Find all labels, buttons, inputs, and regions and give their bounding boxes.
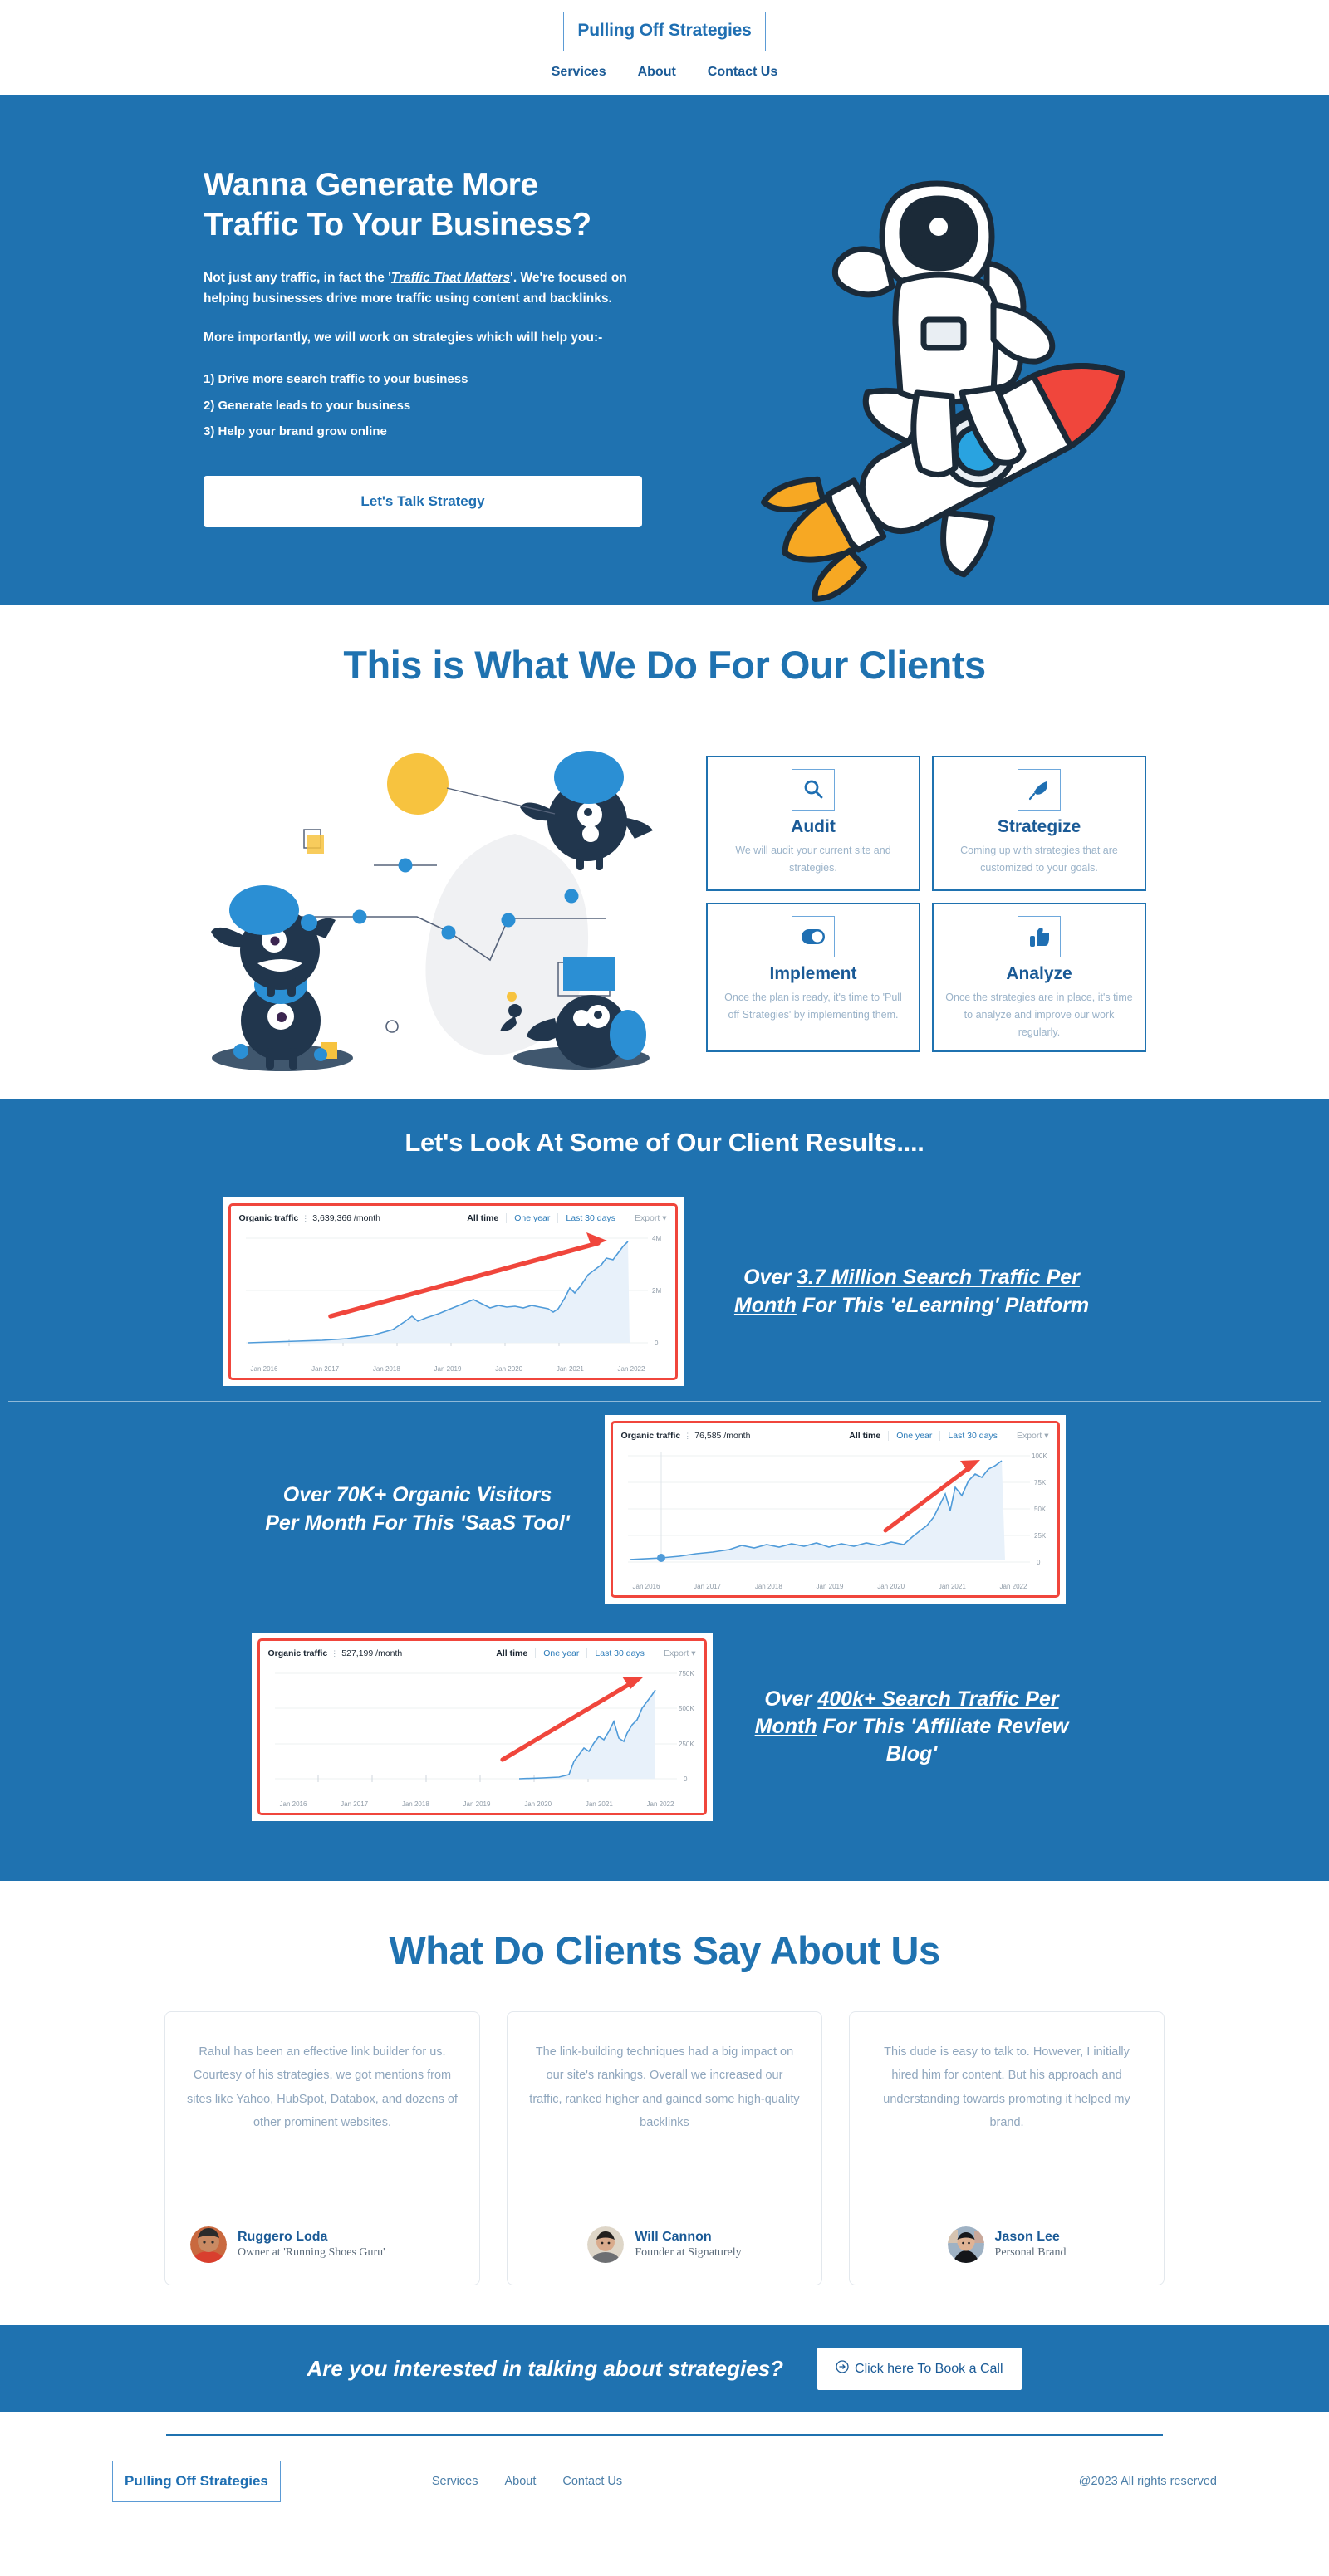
x-tick: Jan 2016 [633,1583,660,1590]
chart-tab-one-year[interactable]: One year [535,1648,586,1658]
testimonial-quote: The link-building techniques had a big i… [529,2040,800,2134]
client-results-section: Let's Look At Some of Our Client Results… [0,1099,1329,1881]
service-card-title: Audit [718,817,909,837]
svg-text:0: 0 [1037,1559,1041,1566]
chart-tab-last-30-days[interactable]: Last 30 days [557,1213,623,1223]
result-divider [8,1619,1321,1619]
chart-tab-all-time[interactable]: All time [459,1213,506,1223]
testimonial-quote: This dude is easy to talk to. However, I… [871,2040,1142,2134]
chart-metric-label: Organic traffic [268,1648,328,1658]
chart-metric-value: 3,639,366 /month [312,1213,380,1223]
service-card-desc: We will audit your current site and stra… [718,842,909,876]
result-caption-3: Over 400k+ Search Traffic Per Month For … [746,1686,1078,1769]
chart-tab-last-30-days[interactable]: Last 30 days [586,1648,652,1658]
hero-section: Wanna Generate More Traffic To Your Busi… [0,95,1329,605]
svg-text:250K: 250K [679,1741,694,1748]
footer-logo[interactable]: Pulling Off Strategies [112,2461,281,2502]
info-icon: ⋮ [331,1649,338,1658]
chart-metric-value: 76,585 /month [694,1431,750,1441]
service-card-title: Strategize [944,817,1135,837]
chart-range-tabs: All time One year Last 30 days [841,1431,1005,1441]
info-icon: ⋮ [684,1432,691,1441]
result-caption-2: Over 70K+ Organic Visitors Per Month For… [264,1481,571,1537]
svg-text:50K: 50K [1034,1506,1047,1513]
x-tick: Jan 2019 [817,1583,844,1590]
hero-title-line-2: Traffic To Your Business? [204,205,652,245]
svg-text:25K: 25K [1034,1532,1047,1540]
svg-text:100K: 100K [1032,1452,1047,1460]
service-card-audit[interactable]: Audit We will audit your current site an… [706,756,920,891]
ahrefs-chart-card-3: Organic traffic ⋮ 527,199 /month All tim… [252,1633,713,1821]
testimonial-card-3: This dude is easy to talk to. However, I… [849,2011,1165,2285]
chart-metric-label: Organic traffic [239,1213,299,1223]
hero-para-before: Not just any traffic, in fact the ' [204,271,391,285]
chart-export-button[interactable]: Export ▾ [1017,1431,1049,1441]
site-footer: Pulling Off Strategies Services About Co… [0,2412,1329,2535]
result-caption-1: Over 3.7 Million Search Traffic Per Mont… [717,1264,1107,1320]
testimonial-name: Ruggero Loda [238,2229,385,2246]
client-results-title: Let's Look At Some of Our Client Results… [0,1128,1329,1158]
x-tick: Jan 2018 [755,1583,782,1590]
primary-nav: Services About Contact Us [0,65,1329,80]
hero-benefits-list: 1) Drive more search traffic to your bus… [204,373,652,439]
service-card-desc: Once the strategies are in place, it's t… [944,989,1135,1041]
testimonial-author: Jason Lee Personal Brand [871,2226,1142,2263]
result-row-1: Organic traffic ⋮ 3,639,366 /month All t… [0,1186,1329,1399]
book-a-call-button[interactable]: Click here To Book a Call [817,2347,1022,2391]
footer-link-about[interactable]: About [504,2475,536,2488]
footer-link-contact-us[interactable]: Contact Us [562,2475,622,2488]
hero-para-emphasis: Traffic That Matters [391,271,510,285]
service-card-title: Implement [718,964,909,984]
site-logo[interactable]: Pulling Off Strategies [563,12,765,51]
site-header: Pulling Off Strategies Services About Co… [0,0,1329,95]
svg-text:0: 0 [655,1339,659,1347]
svg-text:750K: 750K [679,1670,694,1677]
hero-benefit-3: 3) Help your brand grow online [204,425,652,439]
x-tick: Jan 2019 [434,1365,462,1373]
astronaut-rocket-illustration [723,157,1188,605]
service-card-implement[interactable]: Implement Once the plan is ready, it's t… [706,903,920,1052]
monsters-growth-illustration [183,726,689,1075]
testimonial-card-1: Rahul has been an effective link builder… [164,2011,480,2285]
testimonial-author: Will Cannon Founder at Signaturely [529,2226,800,2263]
testimonial-role: Founder at Signaturely [635,2245,741,2260]
svg-text:2M: 2M [652,1287,661,1295]
service-card-desc: Once the plan is ready, it's time to 'Pu… [718,989,909,1023]
services-section-title: This is What We Do For Our Clients [0,642,1329,688]
x-tick: Jan 2016 [280,1800,307,1808]
x-tick: Jan 2018 [402,1800,429,1808]
x-tick: Jan 2022 [647,1800,674,1808]
service-card-desc: Coming up with strategies that are custo… [944,842,1135,876]
avatar [948,2226,984,2263]
bottom-cta-question: Are you interested in talking about stra… [307,2356,783,2382]
testimonials-title: What Do Clients Say About Us [0,1927,1329,1973]
svg-text:0: 0 [684,1775,688,1783]
services-section: This is What We Do For Our Clients [0,605,1329,1099]
book-a-call-label: Click here To Book a Call [855,2362,1003,2377]
nav-item-about[interactable]: About [638,65,676,80]
services-card-grid: Audit We will audit your current site an… [706,756,1146,1052]
magnifier-search-icon [792,769,835,811]
chart-metric-label: Organic traffic [621,1431,681,1441]
svg-text:75K: 75K [1034,1479,1047,1486]
ahrefs-chart-card-1: Organic traffic ⋮ 3,639,366 /month All t… [223,1197,684,1386]
hero-benefit-2: 2) Generate leads to your business [204,399,652,414]
ahrefs-chart-card-2: Organic traffic ⋮ 76,585 /month All time… [605,1415,1066,1604]
avatar [190,2226,227,2263]
chart-export-button[interactable]: Export ▾ [664,1648,696,1658]
svg-text:500K: 500K [679,1705,694,1712]
chart-tab-last-30-days[interactable]: Last 30 days [939,1431,1005,1441]
chart-plot-1: 4M 2M 0 Jan 2016 Jan 2017 Jan 2018 [239,1227,667,1373]
feather-quill-icon [1018,769,1061,811]
testimonial-author: Ruggero Loda Owner at 'Running Shoes Gur… [187,2226,458,2263]
x-tick: Jan 2022 [618,1365,645,1373]
svg-text:4M: 4M [652,1235,661,1242]
chevron-down-icon: ▾ [691,1648,695,1658]
landing-page: Pulling Off Strategies Services About Co… [0,0,1329,2535]
x-tick: Jan 2020 [495,1365,522,1373]
chart-range-tabs: All time One year Last 30 days [459,1213,623,1223]
testimonials-section: What Do Clients Say About Us Rahul has b… [0,1881,1329,2325]
testimonial-role: Personal Brand [995,2245,1067,2260]
x-tick: Jan 2019 [463,1800,491,1808]
nav-item-services[interactable]: Services [552,65,606,80]
x-tick: Jan 2017 [311,1365,339,1373]
service-card-analyze[interactable]: Analyze Once the strategies are in place… [932,903,1146,1052]
hero-copy: Wanna Generate More Traffic To Your Busi… [204,165,652,527]
testimonial-name: Will Cannon [635,2229,741,2246]
avatar [587,2226,624,2263]
hero-paragraph-1: Not just any traffic, in fact the 'Traff… [204,267,648,309]
chart-range-tabs: All time One year Last 30 days [488,1648,652,1658]
nav-item-contact-us[interactable]: Contact Us [708,65,777,80]
chevron-down-icon: ▾ [662,1213,666,1223]
x-tick: Jan 2018 [373,1365,400,1373]
toggle-switch-icon [792,916,835,957]
hero-benefit-1: 1) Drive more search traffic to your bus… [204,373,652,387]
hero-paragraph-2: More importantly, we will work on strate… [204,327,648,348]
arrow-circle-right-icon [836,2360,849,2378]
x-tick: Jan 2020 [877,1583,905,1590]
x-tick: Jan 2020 [524,1800,552,1808]
footer-divider [166,2434,1163,2436]
bottom-cta-banner: Are you interested in talking about stra… [0,2325,1329,2412]
hero-title-line-1: Wanna Generate More [204,165,652,205]
x-tick: Jan 2017 [341,1800,368,1808]
chart-export-button[interactable]: Export ▾ [635,1213,667,1223]
info-icon: ⋮ [302,1214,309,1223]
footer-nav: Services About Contact Us [432,2475,622,2488]
footer-copyright: @2023 All rights reserved [1079,2475,1217,2488]
testimonial-quote: Rahul has been an effective link builder… [187,2040,458,2134]
chart-x-axis-2: Jan 2016 Jan 2017 Jan 2018 Jan 2019 Jan … [621,1581,1049,1590]
chart-x-axis-3: Jan 2016 Jan 2017 Jan 2018 Jan 2019 Jan … [268,1799,696,1808]
thumbs-up-icon [1018,916,1061,957]
service-card-strategize[interactable]: Strategize Coming up with strategies tha… [932,756,1146,891]
x-tick: Jan 2021 [939,1583,966,1590]
result-row-2: Over 70K+ Organic Visitors Per Month For… [0,1403,1329,1617]
chart-tab-one-year[interactable]: One year [506,1213,557,1223]
x-tick: Jan 2021 [586,1800,613,1808]
service-card-title: Analyze [944,964,1135,984]
x-tick: Jan 2017 [694,1583,721,1590]
x-tick: Jan 2021 [557,1365,584,1373]
testimonial-card-2: The link-building techniques had a big i… [507,2011,822,2285]
chart-plot-3: 750K 500K 250K 0 Jan 2016 Jan 2017 [268,1662,696,1808]
result-divider [8,1401,1321,1402]
footer-link-services[interactable]: Services [432,2475,478,2488]
chart-tab-one-year[interactable]: One year [888,1431,939,1441]
testimonial-name: Jason Lee [995,2229,1067,2246]
chart-tab-all-time[interactable]: All time [488,1648,535,1658]
chart-plot-2: 100K 75K 50K 25K 0 Jan 2016 [621,1444,1049,1590]
chart-tab-all-time[interactable]: All time [841,1431,888,1441]
lets-talk-strategy-button[interactable]: Let's Talk Strategy [204,476,642,527]
result-row-3: Organic traffic ⋮ 527,199 /month All tim… [0,1621,1329,1834]
x-tick: Jan 2016 [251,1365,278,1373]
x-tick: Jan 2022 [1000,1583,1027,1590]
chart-metric-value: 527,199 /month [341,1648,402,1658]
hero-title: Wanna Generate More Traffic To Your Busi… [204,165,652,244]
chevron-down-icon: ▾ [1044,1431,1048,1441]
chart-x-axis-1: Jan 2016 Jan 2017 Jan 2018 Jan 2019 Jan … [239,1364,667,1373]
testimonial-role: Owner at 'Running Shoes Guru' [238,2245,385,2260]
